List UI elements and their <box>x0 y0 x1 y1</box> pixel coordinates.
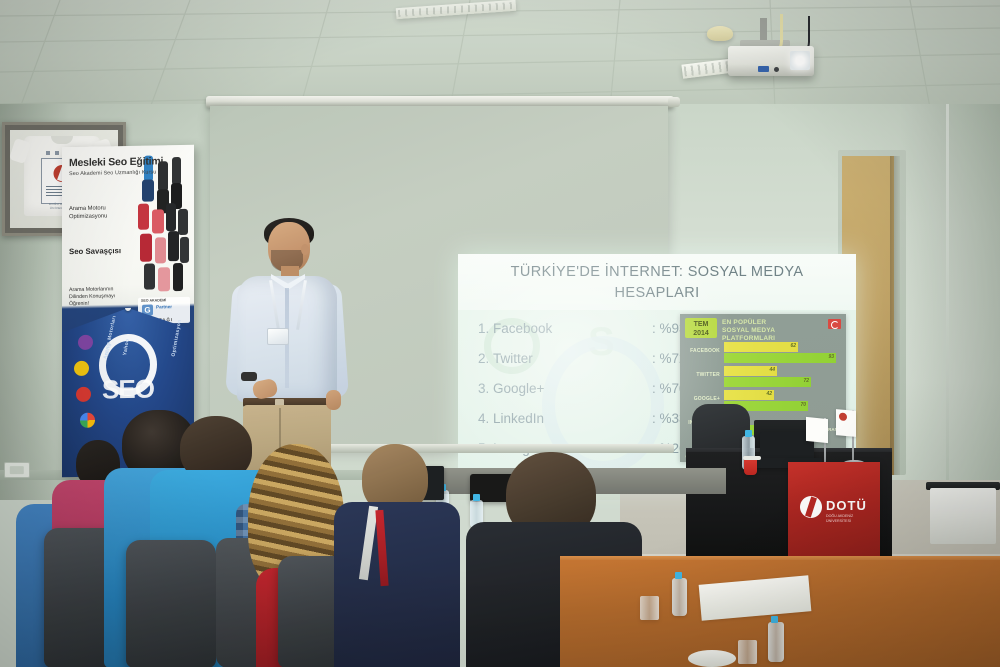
chart-bar-value: 42 <box>766 391 772 397</box>
audience-chair-2[interactable] <box>126 540 216 667</box>
dotu-circle-logo-icon <box>800 496 822 518</box>
chart-heading: EN POPÜLER SOSYAL MEDYA PLATFORMLARI <box>722 319 818 343</box>
chart-date-badge: TEM 2014 <box>685 318 717 338</box>
banner-logo-top: SEO AKADEMİ <box>141 298 166 302</box>
chart-bar-value: 72 <box>803 378 809 384</box>
chart-bar-value: 44 <box>769 367 775 373</box>
projector-vga-port <box>758 66 769 72</box>
photo-scene: DOĞU AKDENİZ ÜNİVERSİTESİ <box>0 0 1000 667</box>
dotu-logo-subtext: DOĞU AKDENİZ ÜNİVERSİTESİ <box>826 514 853 524</box>
white-flag-left <box>806 417 828 443</box>
red-table-banner: DOTÜ DOĞU AKDENİZ ÜNİVERSİTESİ <box>788 462 880 558</box>
lanyard-badge <box>267 328 289 345</box>
projector-lens <box>790 51 810 70</box>
side-table <box>930 488 996 544</box>
chart-bar-value: 62 <box>790 343 796 349</box>
drinking-glass[interactable] <box>640 596 659 620</box>
banner-line-3: Arama Motorlarının Dilinden Konuşmayı Öğ… <box>69 286 115 307</box>
list-item-number: 1. <box>478 314 493 344</box>
ceiling-projector <box>728 46 814 76</box>
wall-shadow-right <box>900 104 1000 500</box>
lanyard-strap <box>271 280 305 334</box>
chart-heading-line2: SOSYAL MEDYA PLATFORMLARI <box>722 327 818 343</box>
chart-category-label: GOOGLE+ <box>684 396 720 402</box>
turkish-flag-icon <box>828 319 841 329</box>
water-bottle-front[interactable] <box>672 578 687 616</box>
slide-platform-list: 1. Facebook : %93 2. Twitter : %72 3. Go… <box>478 314 706 464</box>
list-item-number: 4. <box>478 404 493 434</box>
list-item: 4. LinkedIn : %33 <box>478 404 706 434</box>
list-item: 3. Google+ : %70 <box>478 374 706 404</box>
banner-title: Mesleki Seo Eğitimi <box>69 155 163 169</box>
list-item: 1. Facebook : %93 <box>478 314 706 344</box>
door-shadow <box>890 156 900 475</box>
plate <box>688 650 736 667</box>
banner-line-1: Arama Motoru Optimizasyonu <box>69 204 107 221</box>
chart-row: FACEBOOK 62 93 <box>680 342 846 366</box>
attendee-navy-suit <box>334 444 460 667</box>
engine-word-2: Yahoo <box>122 338 131 356</box>
engine-word-1: Bing <box>104 343 112 356</box>
ceiling-tile-grid <box>0 0 1000 108</box>
projector-port <box>774 67 779 72</box>
ceiling <box>0 0 1000 108</box>
smoke-detector-icon <box>707 26 733 41</box>
dotu-logo-text: DOTÜ <box>826 498 867 513</box>
banner-top-section: Mesleki Seo Eğitimi Seo Akademi Seo Uzma… <box>62 145 194 308</box>
coffee-cup[interactable] <box>744 458 757 475</box>
wall-corner <box>946 104 949 500</box>
list-item-name: Facebook <box>493 314 652 344</box>
chart-bar-value: 70 <box>800 402 806 408</box>
chart-row: TWITTER 44 72 <box>680 366 846 390</box>
slide-title: TÜRKİYE'DE İNTERNET: SOSYAL MEDYA HESAPL… <box>470 262 844 304</box>
attendee-body <box>334 502 460 667</box>
list-item: 2. Twitter : %72 <box>478 344 706 374</box>
flag-logo-icon <box>839 412 847 421</box>
tshirt-collar <box>51 136 73 144</box>
list-item-name: Google+ <box>493 374 652 404</box>
chart-bar-value: 93 <box>828 354 834 360</box>
chart-bar-yellow: 44 <box>724 366 777 376</box>
chart-bar-yellow: 62 <box>724 342 798 352</box>
list-item-number: 3. <box>478 374 493 404</box>
presenter-hand-right <box>326 390 341 410</box>
wristwatch <box>241 372 257 381</box>
drinking-glass-2[interactable] <box>738 640 757 664</box>
presenter-ear <box>301 244 309 255</box>
list-item-name: LinkedIn <box>493 404 652 434</box>
chart-bar-yellow: 42 <box>724 390 774 400</box>
banner-line-2: Seo Savaşçısı <box>69 246 121 256</box>
list-item-name: Twitter <box>493 344 652 374</box>
chart-heading-line1: EN POPÜLER <box>722 319 818 327</box>
chart-category-label: TWITTER <box>684 372 720 378</box>
white-flag-right <box>836 409 856 437</box>
water-bottle-front-2[interactable] <box>768 622 784 662</box>
list-item-number: 2. <box>478 344 493 374</box>
badge-month: TEM <box>685 320 717 329</box>
chart-bar-green: 72 <box>724 377 811 387</box>
badge-year: 2014 <box>685 329 717 338</box>
chart-category-label: FACEBOOK <box>684 348 720 354</box>
chart-bar-green: 93 <box>724 353 836 363</box>
